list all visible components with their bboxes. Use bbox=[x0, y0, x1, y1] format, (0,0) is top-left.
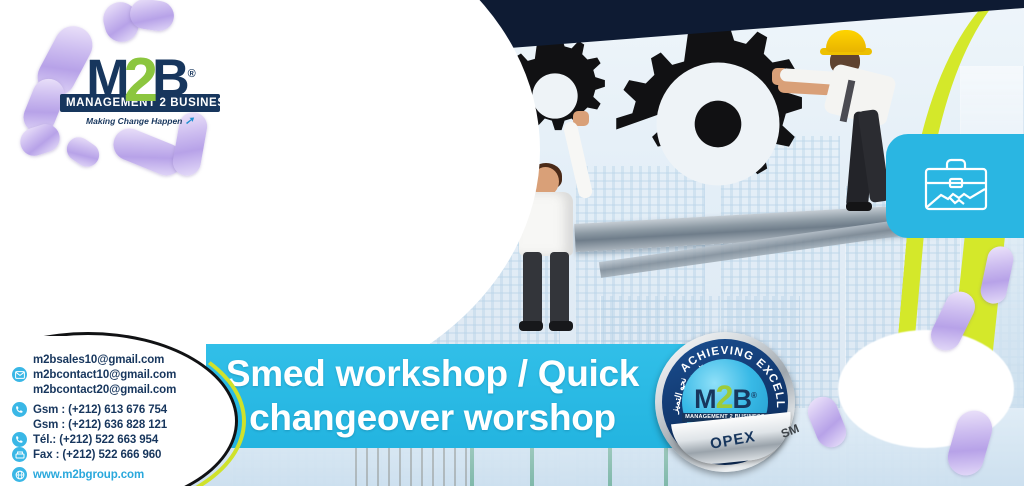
title-line-1: Smed workshop / Quick bbox=[226, 352, 639, 396]
title-line-2: changeover worshop bbox=[249, 396, 616, 440]
phone-icon bbox=[12, 432, 27, 447]
page-title: Smed workshop / Quick changeover worshop bbox=[210, 348, 655, 444]
email-value: m2bsales10@gmail.com bbox=[33, 354, 164, 366]
contact-row-phone[interactable]: Gsm : (+212) 613 676 754 bbox=[12, 402, 212, 417]
growth-arrow-icon: ➚ bbox=[185, 114, 194, 127]
briefcase-handshake-panel bbox=[886, 134, 1024, 238]
contact-row-website[interactable]: www.m2bgroup.com bbox=[12, 467, 212, 482]
phone-value: Gsm : (+212) 636 828 121 bbox=[33, 419, 167, 431]
marketing-banner: M2B® MANAGEMENT 2 BUSINESS Making Change… bbox=[0, 0, 1024, 486]
globe-icon bbox=[12, 467, 27, 482]
contact-details: m2bsales10@gmail.com m2bcontact10@gmail.… bbox=[12, 352, 212, 482]
telephone-value: Tél.: (+212) 522 663 954 bbox=[33, 434, 158, 446]
logo-letter-m: M bbox=[86, 49, 127, 107]
opex-achieving-excellence-badge: ACHIEVING EXCELLENCE ★ ★ ★ نحو التميز M2… bbox=[655, 332, 795, 472]
contact-row-email[interactable]: m2bsales10@gmail.com bbox=[12, 352, 212, 367]
contact-row-email[interactable]: m2bcontact20@gmail.com bbox=[12, 382, 212, 397]
fax-icon bbox=[12, 447, 27, 462]
website-value[interactable]: www.m2bgroup.com bbox=[33, 469, 144, 481]
phone-value: Gsm : (+212) 613 676 754 bbox=[33, 404, 167, 416]
registered-mark: ® bbox=[188, 68, 194, 80]
m2b-logo-wordmark: M2B® bbox=[86, 48, 193, 104]
badge-logo-wordmark: M2B® bbox=[694, 383, 756, 412]
logo-letter-b: B bbox=[152, 49, 188, 107]
contact-row-fax[interactable]: Fax : (+212) 522 666 960 bbox=[12, 447, 212, 462]
m2b-logo: M2B® MANAGEMENT 2 BUSINESS Making Change… bbox=[60, 48, 220, 130]
email-value: m2bcontact10@gmail.com bbox=[33, 369, 176, 381]
fax-value: Fax : (+212) 522 666 960 bbox=[33, 449, 161, 461]
m2b-logo-tagline: Making Change Happen ➚ bbox=[60, 114, 220, 127]
contact-row-phone[interactable]: Gsm : (+212) 636 828 121 bbox=[12, 417, 212, 432]
logo-letter-2: 2 bbox=[124, 46, 156, 115]
badge-ribbon-text: OPEX bbox=[709, 428, 757, 453]
envelope-icon bbox=[12, 367, 27, 382]
contact-row-phone[interactable]: Tél.: (+212) 522 663 954 bbox=[12, 432, 212, 447]
contact-row-email[interactable]: m2bcontact10@gmail.com bbox=[12, 367, 212, 382]
email-value: m2bcontact20@gmail.com bbox=[33, 384, 176, 396]
phone-icon bbox=[12, 402, 27, 417]
gear-icon bbox=[612, 18, 824, 230]
briefcase-handshake-icon bbox=[920, 153, 992, 220]
